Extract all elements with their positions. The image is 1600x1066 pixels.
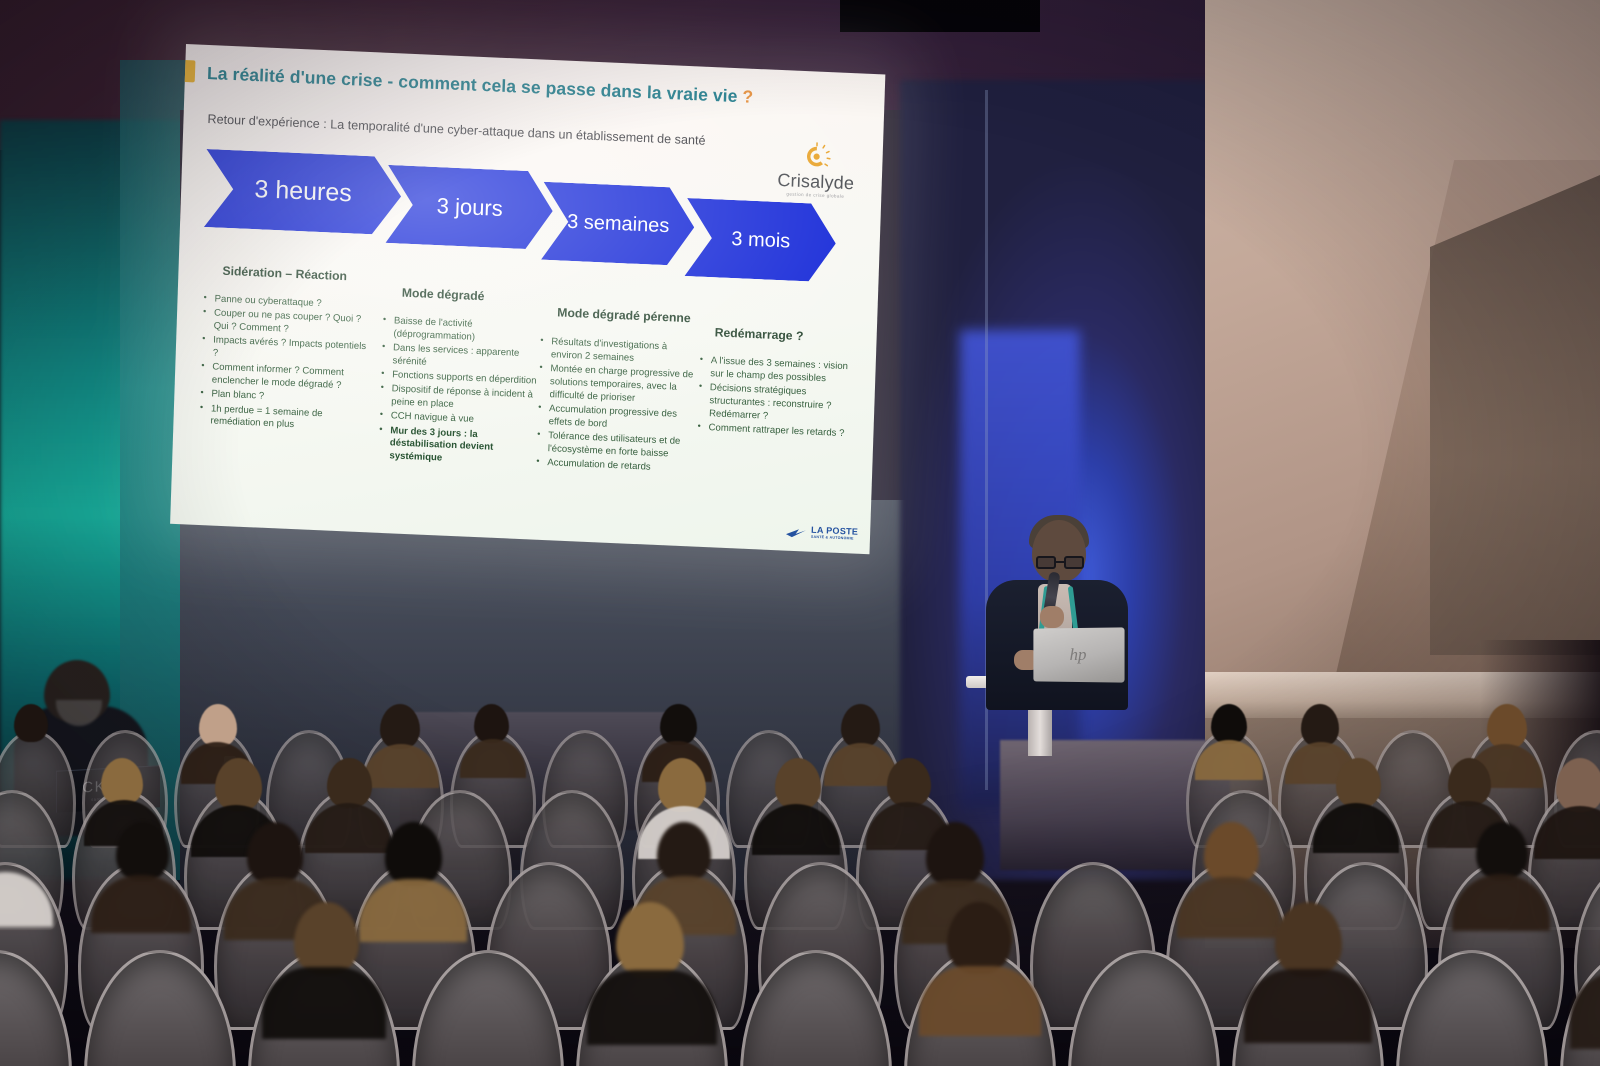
- speaker-hand-mic: [1040, 606, 1064, 628]
- chevron-3-semaines: 3 semaines: [541, 182, 695, 267]
- slide-title: La réalité d'une crise - comment cela se…: [207, 63, 807, 111]
- audience-head: [385, 822, 442, 886]
- audience-head: [247, 822, 303, 885]
- audience-head: [215, 758, 262, 811]
- conference-room-scene: La réalité d'une crise - comment cela se…: [0, 0, 1600, 1066]
- slide: La réalité d'une crise - comment cela se…: [170, 44, 885, 554]
- laposte-bird-icon: [785, 525, 807, 539]
- audience-head: [1336, 758, 1381, 808]
- column-heading-1: Sidération – Réaction: [222, 264, 347, 283]
- audience-head: [775, 758, 821, 810]
- slide-subtitle: Retour d'expérience : La temporalité d'u…: [207, 111, 787, 153]
- slide-title-text: La réalité d'une crise - comment cela se…: [207, 63, 738, 106]
- audience-head: [660, 704, 697, 745]
- bullet-column-4: A l'issue des 3 semaines : vision sur le…: [695, 355, 850, 443]
- audience-shoulders: [1244, 969, 1371, 1043]
- audience-head: [841, 704, 880, 748]
- audience-head: [887, 758, 931, 807]
- speaker-head: [1032, 520, 1086, 582]
- audience-head: [1448, 758, 1491, 806]
- bullet-item: Montée en charge progressive de solution…: [536, 363, 695, 408]
- bullet-list: Résultats d'investigations à environ 2 s…: [534, 336, 696, 476]
- audience-shoulders: [919, 966, 1041, 1036]
- laposte-text: LA POSTE SANTÉ & AUTONOMIE: [811, 526, 858, 542]
- audience-head: [1476, 822, 1528, 880]
- projection-screen: La réalité d'une crise - comment cela se…: [170, 44, 885, 554]
- audience-head: [14, 704, 48, 742]
- audience-head: [658, 758, 706, 812]
- audience-shoulders: [587, 970, 716, 1045]
- chevron-3-mois: 3 mois: [685, 198, 837, 283]
- wall-tan-recess: [1430, 175, 1600, 655]
- speaker-glasses-icon: [1036, 556, 1084, 570]
- crisalyde-sun-icon: [801, 141, 832, 172]
- laposte-subline: SANTÉ & AUTONOMIE: [811, 536, 858, 542]
- audience-head: [327, 758, 372, 808]
- audience-head: [101, 758, 143, 805]
- audience-head: [199, 704, 237, 747]
- bullet-list: Baisse de l'activité (déprogrammation)Da…: [376, 315, 541, 470]
- ceiling-recess: [840, 0, 1040, 32]
- chevron-3-jours: 3 jours: [386, 165, 554, 250]
- audience-head: [1301, 704, 1339, 747]
- audience-head: [1556, 758, 1600, 812]
- audience-head: [1211, 704, 1247, 744]
- audience-head: [474, 704, 509, 743]
- bullet-column-2: Baisse de l'activité (déprogrammation)Da…: [376, 315, 541, 471]
- bullet-column-1: Panne ou cyberattaque ?Couper ou ne pas …: [197, 293, 371, 437]
- audience-head: [380, 704, 420, 749]
- bullet-list: Panne ou cyberattaque ?Couper ou ne pas …: [197, 293, 371, 435]
- column-heading-4: Redémarrage ?: [714, 325, 803, 343]
- chevron-3-heures: 3 heures: [204, 149, 402, 236]
- hp-logo: hp: [1070, 645, 1087, 665]
- slide-title-question-mark: ?: [737, 86, 753, 107]
- column-heading-3: Mode dégradé pérenne: [557, 305, 691, 325]
- audience-head: [116, 822, 169, 881]
- column-heading-2: Mode dégradé: [402, 286, 485, 304]
- audience-head: [294, 902, 359, 975]
- bullet-item: 1h perdue = 1 semaine de remédiation en …: [197, 402, 368, 435]
- bullet-item: Mur des 3 jours : la déstabilisation dev…: [376, 424, 537, 469]
- audience-head: [1275, 902, 1342, 977]
- audience-shoulders: [262, 967, 386, 1039]
- audience-head: [1204, 822, 1259, 884]
- bullet-list: A l'issue des 3 semaines : vision sur le…: [695, 355, 849, 441]
- audience-head: [1487, 704, 1527, 749]
- bullet-item: Décisions stratégiques structurantes : r…: [696, 382, 849, 427]
- bullet-column-3: Résultats d'investigations à environ 2 s…: [534, 336, 696, 478]
- laposte-logo: LA POSTE SANTÉ & AUTONOMIE: [785, 525, 858, 542]
- audience-head: [657, 822, 711, 882]
- speaker-laptop: hp: [1033, 627, 1124, 682]
